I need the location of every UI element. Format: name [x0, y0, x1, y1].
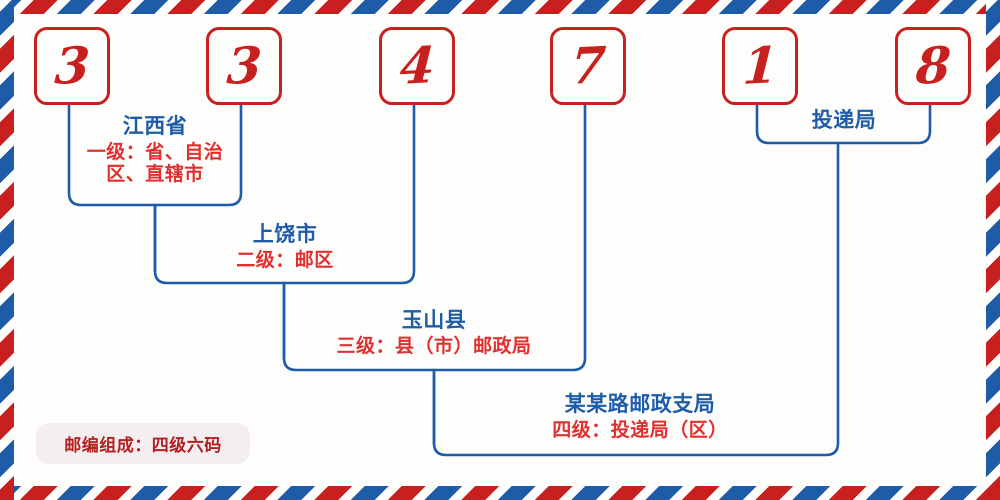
digit-glyph-3: 4	[398, 40, 436, 92]
node-level-3-title: 玉山县	[318, 308, 550, 333]
node-level-1: 江西省 一级：省、自治区、直辖市	[75, 114, 235, 186]
legend-badge-label: 邮编组成：四级六码	[64, 431, 222, 456]
node-delivery-office: 投递局	[768, 108, 920, 133]
digit-glyph-2: 3	[225, 40, 263, 92]
node-level-4-subtitle: 四级：投递局（区）	[522, 419, 758, 441]
node-level-1-title: 江西省	[75, 114, 235, 139]
digit-box-6[interactable]: 8	[895, 27, 971, 105]
digit-box-3[interactable]: 4	[379, 27, 455, 105]
digit-glyph-5: 1	[741, 40, 779, 92]
node-level-2: 上饶市 二级：邮区	[205, 222, 365, 271]
legend-badge: 邮编组成：四级六码	[36, 423, 250, 464]
node-level-4-title: 某某路邮政支局	[522, 392, 758, 417]
node-level-3-subtitle: 三级：县（市）邮政局	[318, 335, 550, 357]
node-level-2-subtitle: 二级：邮区	[205, 249, 365, 271]
node-level-1-subtitle: 一级：省、自治区、直辖市	[75, 141, 235, 186]
node-level-3: 玉山县 三级：县（市）邮政局	[318, 308, 550, 357]
node-delivery-office-title: 投递局	[768, 108, 920, 133]
node-level-2-title: 上饶市	[205, 222, 365, 247]
digit-glyph-1: 3	[53, 40, 91, 92]
postcode-diagram: 3 3 4 7 1 8 江西省 一级：省、自治区、直辖市 上饶市 二级：邮区 玉…	[0, 0, 1000, 500]
digit-glyph-6: 8	[914, 40, 952, 92]
digit-box-1[interactable]: 3	[34, 27, 110, 105]
digit-box-5[interactable]: 1	[722, 27, 798, 105]
digit-glyph-4: 7	[569, 40, 607, 92]
node-level-4: 某某路邮政支局 四级：投递局（区）	[522, 392, 758, 441]
digit-box-4[interactable]: 7	[550, 27, 626, 105]
digit-box-2[interactable]: 3	[206, 27, 282, 105]
